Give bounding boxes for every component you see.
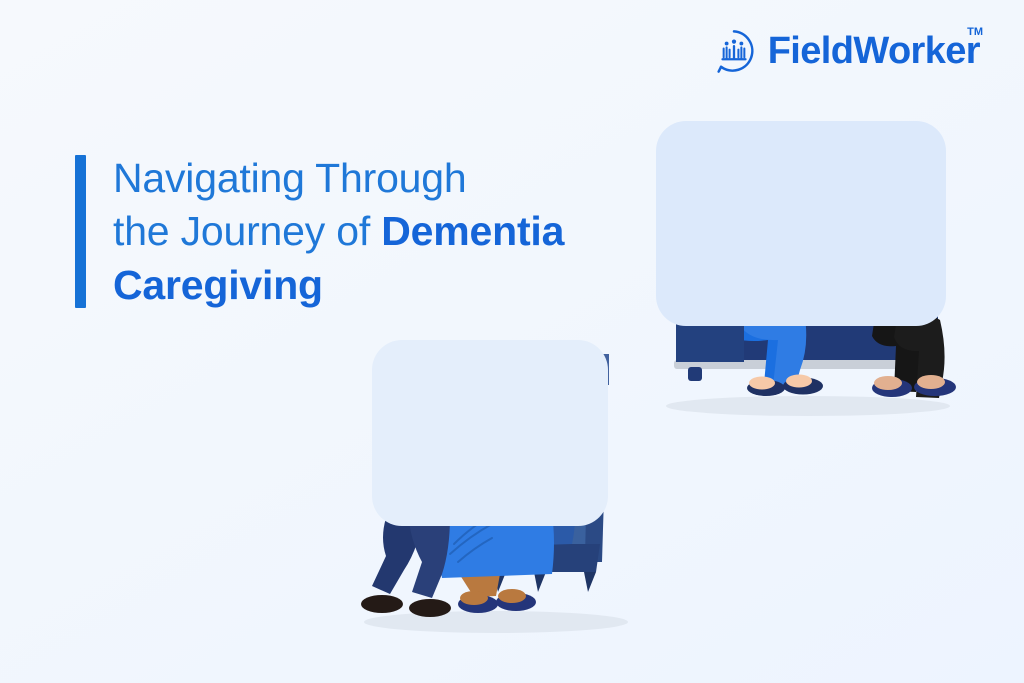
three-people-in-circle-icon xyxy=(711,28,757,74)
scene-backdrop xyxy=(372,340,608,526)
headline-block: Navigating Through the Journey of Dement… xyxy=(75,152,564,312)
title-line-2-strong: Dementia xyxy=(381,208,564,254)
scene-backdrop xyxy=(656,121,946,326)
title-line-2-normal: the Journey of xyxy=(113,208,381,254)
brand-logo[interactable]: FieldWorker TM xyxy=(711,28,980,74)
page-title: Navigating Through the Journey of Dement… xyxy=(113,152,564,312)
reading-newspaper-scene xyxy=(648,112,958,432)
title-line-3-strong: Caregiving xyxy=(113,262,323,308)
poster-canvas: FieldWorker TM Navigating Through the Jo… xyxy=(0,0,1024,683)
tucking-blanket-scene xyxy=(338,332,638,652)
brand-name: FieldWorker xyxy=(768,30,980,72)
accent-bar xyxy=(75,155,86,308)
title-line-1: Navigating Through xyxy=(113,155,467,201)
trademark-symbol: TM xyxy=(967,26,983,38)
